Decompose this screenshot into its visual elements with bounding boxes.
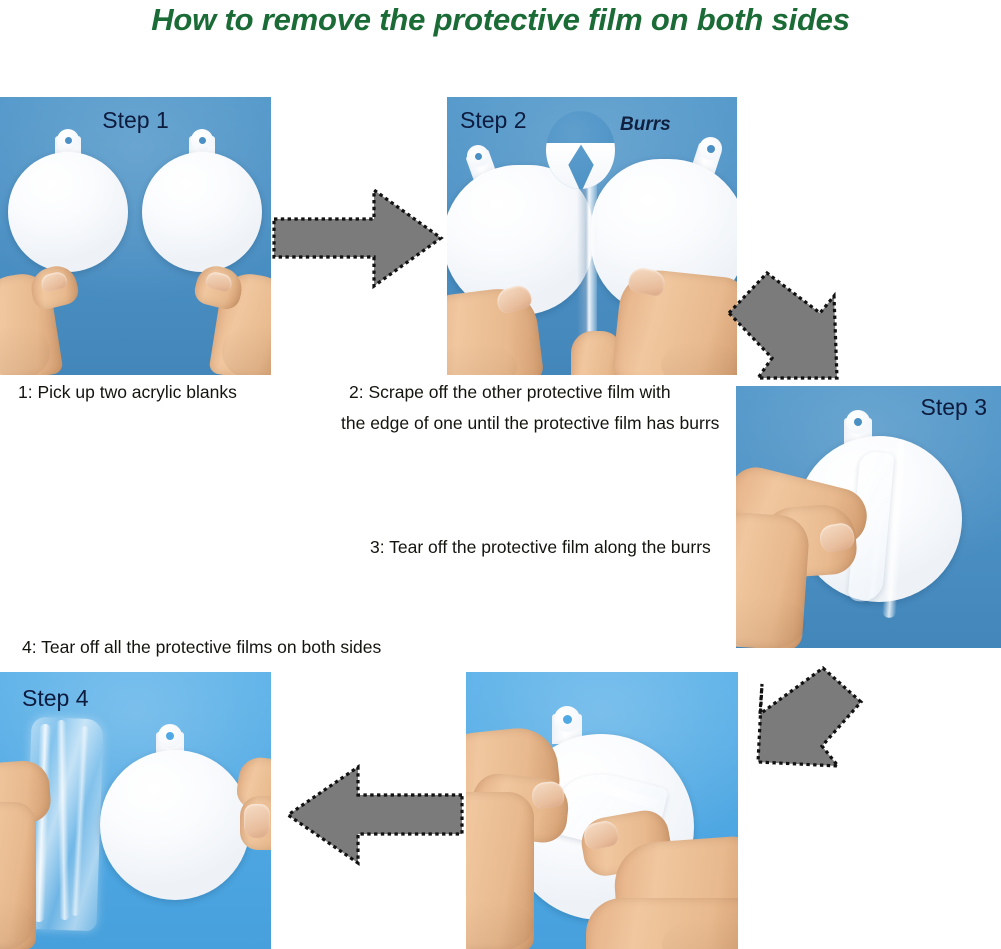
blank-disc xyxy=(8,152,128,272)
caption-step-1: 1: Pick up two acrylic blanks xyxy=(18,377,237,407)
arrow-down-right-icon xyxy=(722,266,850,388)
panel-step-3b xyxy=(466,672,738,949)
blank-hole xyxy=(707,145,715,153)
blank-disc xyxy=(100,750,250,900)
panel-label-step-4: Step 4 xyxy=(22,685,89,712)
blank-disc xyxy=(142,152,262,272)
panel-label-step-3: Step 3 xyxy=(921,394,988,421)
caption-step-2-line-2: the edge of one until the protective fil… xyxy=(341,408,719,438)
blank-hole xyxy=(475,153,482,160)
arrow-right-top-icon xyxy=(270,186,445,290)
acrylic-blank-right xyxy=(142,152,262,272)
panel-step-3: Step 3 xyxy=(736,386,1001,648)
blank-hole xyxy=(65,137,72,144)
acrylic-blank-clean xyxy=(100,750,250,900)
burr-film-left xyxy=(546,143,582,189)
burr-zoom-inset xyxy=(546,111,615,189)
panel-step-2: Burrs Step 2 xyxy=(447,97,737,375)
fingernail xyxy=(531,780,566,809)
caption-step-3: 3: Tear off the protective film along th… xyxy=(370,532,711,562)
panel-step-4: Step 4 xyxy=(0,672,271,949)
blank-hole xyxy=(199,137,206,144)
caption-step-2-line-1: 2: Scrape off the other protective film … xyxy=(349,377,671,407)
panel-label-step-2: Step 2 xyxy=(460,107,527,134)
acrylic-blank-left xyxy=(8,152,128,272)
fingernail xyxy=(244,804,270,838)
blank-hole xyxy=(563,715,572,724)
instruction-diagram: How to remove the protective film on bot… xyxy=(0,0,1001,949)
burr-film-right xyxy=(580,143,615,189)
caption-step-4: 4: Tear off all the protective films on … xyxy=(22,632,381,662)
blank-hole xyxy=(854,418,862,426)
blank-seam xyxy=(577,181,597,337)
panel-label-step-1: Step 1 xyxy=(0,107,271,134)
arrow-left-bottom-icon xyxy=(282,762,466,868)
arrow-down-left-icon xyxy=(744,662,868,790)
burr-label: Burrs xyxy=(620,114,671,136)
page-title: How to remove the protective film on bot… xyxy=(0,2,1001,38)
blank-hole xyxy=(166,732,174,740)
panel-step-1: Step 1 xyxy=(0,97,271,375)
